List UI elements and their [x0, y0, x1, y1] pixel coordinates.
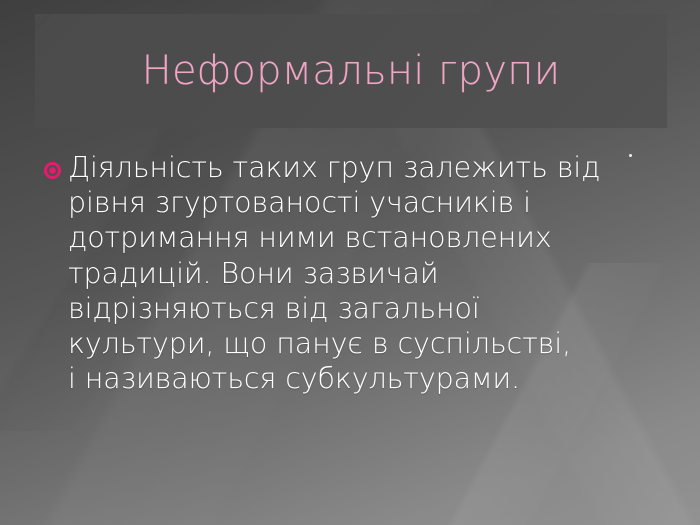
slide-body: Діяльність таких груп залежить від рівня… — [44, 150, 684, 396]
presentation-slide: Неформальні групи Діяльність таких груп … — [0, 0, 700, 525]
body-paragraph-text: Діяльність таких груп залежить від рівня… — [68, 150, 684, 396]
ring-dot-bullet-icon — [44, 162, 61, 179]
slide-title: Неформальні групи — [35, 14, 667, 128]
